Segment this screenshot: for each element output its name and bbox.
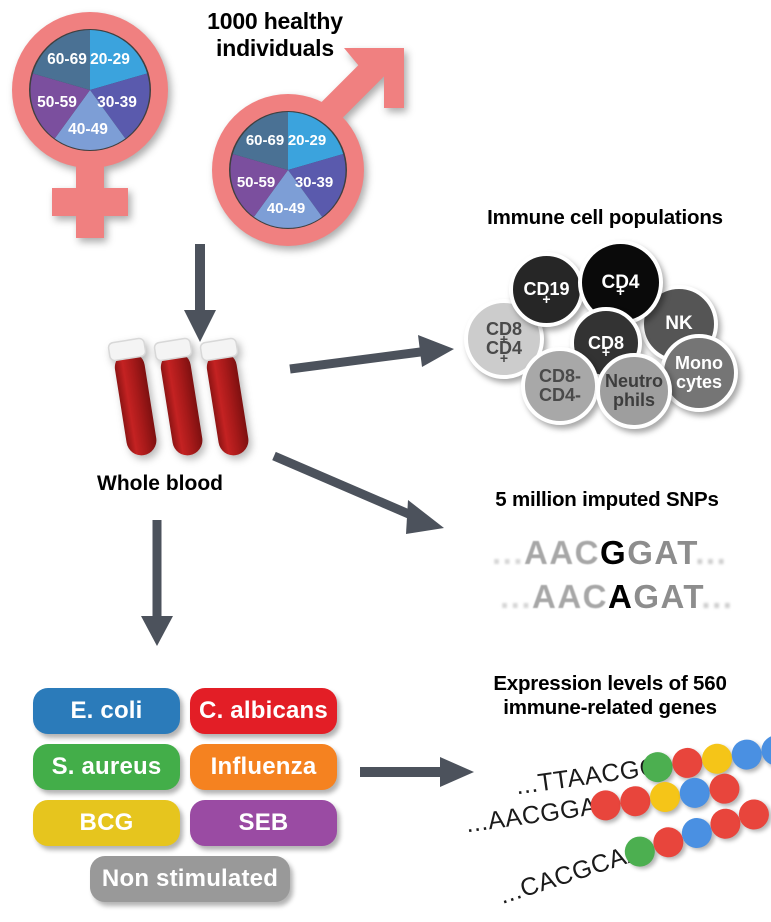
expression-bead bbox=[700, 742, 734, 776]
arrow-blood-to-snps bbox=[272, 446, 462, 546]
cell-label-line: CD4+ bbox=[486, 339, 522, 358]
cell-label-line: CD8+ bbox=[588, 334, 624, 353]
snp-prefix: ... bbox=[492, 534, 524, 571]
cell-monocytes: Monocytes bbox=[660, 334, 738, 412]
arrow-blood-to-immune bbox=[288, 325, 468, 385]
cell-cd19p: CD19+ bbox=[509, 252, 584, 327]
pie-label-40-49: 40-49 bbox=[68, 121, 108, 138]
cell-label-line: NK bbox=[665, 314, 692, 334]
cell-label-line: CD4- bbox=[539, 386, 581, 405]
expression-bead bbox=[730, 738, 764, 772]
pie-label-50-59: 50-59 bbox=[37, 94, 77, 111]
snp-suffix: ... bbox=[695, 534, 727, 571]
stimulus-non-stimulated[interactable]: Non stimulated bbox=[90, 856, 290, 902]
section-title-snps: 5 million imputed SNPs bbox=[452, 488, 762, 512]
pie-label-50-59: 50-59 bbox=[237, 174, 275, 191]
cell-neutrophils: Neutrophils bbox=[596, 353, 672, 429]
snp-left: AAC bbox=[532, 578, 608, 615]
snp-suffix: ... bbox=[701, 578, 733, 615]
expression-bead bbox=[618, 784, 652, 818]
pie-label-30-39: 30-39 bbox=[97, 94, 137, 111]
expression-bead bbox=[648, 780, 682, 814]
cell-label-line: Neutro bbox=[605, 372, 663, 391]
snp-variant-base: G bbox=[600, 534, 627, 571]
snp-variant-base: A bbox=[608, 578, 633, 615]
arrow-stimuli-to-expression bbox=[360, 752, 480, 792]
stimulus-e-coli[interactable]: E. coli bbox=[33, 688, 180, 734]
tube-1 bbox=[108, 338, 162, 458]
pie-label-40-49: 40-49 bbox=[267, 200, 305, 217]
expression-bead bbox=[759, 733, 771, 767]
stimulus-label: SEB bbox=[239, 809, 289, 837]
stimulus-s-aureus[interactable]: S. aureus bbox=[33, 744, 180, 790]
stimulus-bcg[interactable]: BCG bbox=[33, 800, 180, 846]
pie-label-60-69: 60-69 bbox=[246, 132, 284, 149]
expression-bead bbox=[735, 796, 771, 834]
tube-2 bbox=[154, 338, 208, 458]
cell-label-line: CD19+ bbox=[523, 280, 569, 299]
strand-sequence: ...AACGGAT bbox=[464, 790, 613, 839]
male-age-pie: 20-29 30-39 40-49 50-59 60-69 bbox=[228, 110, 348, 230]
snp-sequence-allele-g: ...AACGGAT... bbox=[492, 534, 727, 572]
label-whole-blood: Whole blood bbox=[60, 472, 260, 496]
stimulus-label: BCG bbox=[80, 809, 134, 837]
cell-label-line: phils bbox=[605, 391, 663, 410]
stimulus-label: E. coli bbox=[70, 697, 142, 725]
cell-cd8n-cd4n: CD8-CD4- bbox=[521, 347, 599, 425]
pie-label-20-29: 20-29 bbox=[288, 132, 326, 149]
arrow-blood-to-stimuli bbox=[135, 520, 179, 650]
cell-label-line: CD8- bbox=[539, 367, 581, 386]
arrow-cohort-to-blood bbox=[180, 244, 220, 344]
stimulus-c-albicans[interactable]: C. albicans bbox=[190, 688, 337, 734]
cell-label-line: CD8+ bbox=[486, 320, 522, 339]
expression-bead bbox=[678, 776, 712, 810]
pie-label-30-39: 30-39 bbox=[295, 174, 333, 191]
stimulus-influenza[interactable]: Influenza bbox=[190, 744, 337, 790]
section-title-immune-cells: Immune cell populations bbox=[440, 206, 770, 230]
cell-label-line: Mono bbox=[675, 354, 723, 373]
page-title-cohort: 1000 healthy individuals bbox=[160, 8, 390, 62]
snp-right: GAT bbox=[627, 534, 695, 571]
pie-label-20-29: 20-29 bbox=[90, 51, 130, 68]
expression-bead bbox=[708, 772, 742, 806]
tube-3 bbox=[200, 338, 254, 458]
snp-right: GAT bbox=[633, 578, 701, 615]
stimulus-label: Non stimulated bbox=[102, 865, 278, 893]
pie-label-60-69: 60-69 bbox=[47, 51, 87, 68]
stimulus-seb[interactable]: SEB bbox=[190, 800, 337, 846]
section-title-expression: Expression levels of 560 immune-related … bbox=[455, 672, 765, 720]
snp-left: AAC bbox=[524, 534, 600, 571]
figure-canvas: 20-29 30-39 40-49 50-59 60-69 20-29 bbox=[0, 0, 771, 922]
snp-prefix: ... bbox=[500, 578, 532, 615]
cell-label-line: CD4+ bbox=[601, 273, 639, 293]
stimulus-label: C. albicans bbox=[199, 697, 328, 725]
snp-sequence-allele-a: ...AACAGAT... bbox=[500, 578, 733, 616]
stimulus-label: Influenza bbox=[211, 753, 317, 781]
cell-label-line: cytes bbox=[675, 373, 723, 392]
female-age-pie: 20-29 30-39 40-49 50-59 60-69 bbox=[28, 28, 152, 152]
blood-tubes bbox=[100, 330, 270, 480]
stimulus-label: S. aureus bbox=[52, 753, 162, 781]
